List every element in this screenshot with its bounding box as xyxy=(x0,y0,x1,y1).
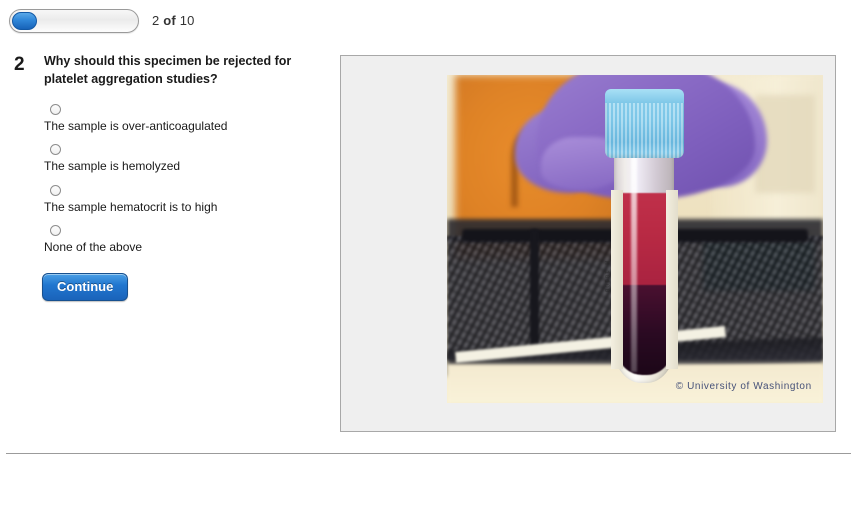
answer-option-2[interactable]: The sample is hemolyzed xyxy=(44,144,330,173)
photo-blood-cell-layer xyxy=(618,285,671,374)
answer-option-label[interactable]: None of the above xyxy=(44,240,330,254)
progress-total: 10 xyxy=(180,13,195,28)
answer-option-label[interactable]: The sample is hemolyzed xyxy=(44,159,330,173)
photo-tube-label-left: M 10100 xyxy=(611,190,623,369)
progress-counter: 2 of 10 xyxy=(152,13,195,28)
photo-tube-highlight xyxy=(631,152,636,371)
radio-unselected-icon[interactable] xyxy=(50,104,61,115)
photo-tube-label-right xyxy=(666,190,678,369)
question-number: 2 xyxy=(14,54,25,76)
radio-unselected-icon[interactable] xyxy=(50,185,61,196)
photo-credit: © University of Washington xyxy=(676,381,812,392)
specimen-photo: M 10100 © University of Washington xyxy=(447,75,823,403)
question-text: Why should this specimen be rejected for… xyxy=(44,52,306,88)
progress-separator: of xyxy=(159,13,179,28)
question-header: 2 Why should this specimen be rejected f… xyxy=(0,52,330,92)
media-panel: M 10100 © University of Washington xyxy=(340,55,836,432)
radio-unselected-icon[interactable] xyxy=(50,144,61,155)
answer-option-label[interactable]: The sample is over-anticoagulated xyxy=(44,119,330,133)
photo-blood-tube: M 10100 xyxy=(614,95,674,384)
progress-row: 2 of 10 xyxy=(0,0,851,44)
answer-options: The sample is over-anticoagulated The sa… xyxy=(0,104,330,255)
photo-tube-cap xyxy=(605,95,684,158)
radio-unselected-icon[interactable] xyxy=(50,225,61,236)
footer-divider xyxy=(6,453,851,454)
photo-tube-label-text: M 10100 xyxy=(603,261,610,293)
answer-option-4[interactable]: None of the above xyxy=(44,225,330,254)
actions-row: Continue xyxy=(0,273,330,301)
answer-option-label[interactable]: The sample hematocrit is to high xyxy=(44,200,330,214)
question-panel: 2 Why should this specimen be rejected f… xyxy=(0,52,330,301)
photo-blood-plasma-layer xyxy=(618,193,671,291)
progress-bar xyxy=(9,9,139,33)
continue-button[interactable]: Continue xyxy=(42,273,128,301)
answer-option-3[interactable]: The sample hematocrit is to high xyxy=(44,185,330,214)
answer-option-1[interactable]: The sample is over-anticoagulated xyxy=(44,104,330,133)
photo-rack-vertical-bar xyxy=(530,229,539,350)
photo-tube-cap-top xyxy=(605,89,684,103)
progress-bar-fill xyxy=(12,12,37,30)
